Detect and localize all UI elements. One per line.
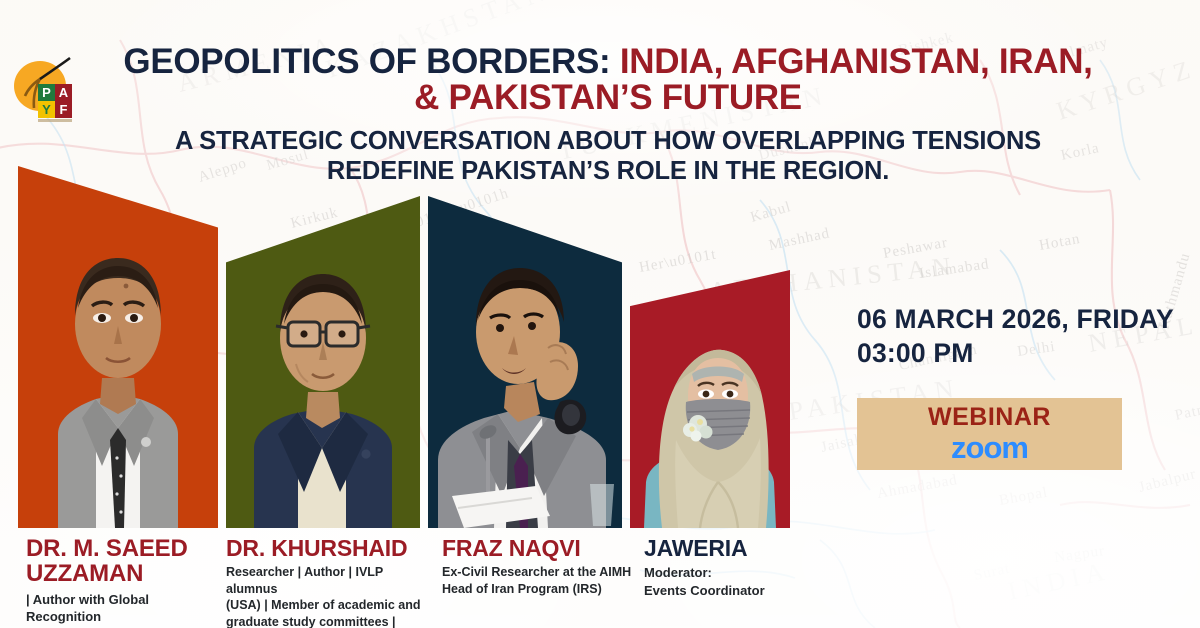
subtitle-line-2: REDEFINE PAKISTAN’S ROLE IN THE REGION. [78,156,1138,186]
speaker-caption-4: JAWERIA Moderator: Events Coordinator [644,536,824,599]
speaker-caption-3: FRAZ NAQVI Ex-Civil Researcher at the AI… [442,536,632,597]
speaker-name-2: DR. KHURSHAID [226,536,426,560]
svg-text:Y: Y [42,102,51,117]
svg-text:Mashhad: Mashhad [768,225,832,254]
subtitle-block: A STRATEGIC CONVERSATION ABOUT HOW OVERL… [78,126,1138,186]
title-line-1: GEOPOLITICS OF BORDERS: INDIA, AFGHANIST… [78,44,1138,80]
payf-logo: P A Y F [6,46,84,132]
speaker-role-4: Moderator: Events Coordinator [644,564,824,598]
speaker-name-3: FRAZ NAQVI [442,536,632,560]
headline-block: GEOPOLITICS OF BORDERS: INDIA, AFGHANIST… [78,44,1138,186]
speaker-name-1: DR. M. SAEED UZZAMAN [26,536,222,587]
title-navy-part: GEOPOLITICS OF BORDERS: [123,42,610,81]
webinar-poster: ARMENIA KAZAKHSTAN KYRGYZ TURKMENISTAN A… [0,0,1200,628]
subtitle-line-1: A STRATEGIC CONVERSATION ABOUT HOW OVERL… [78,126,1138,156]
portrait-4 [630,270,790,528]
speaker-caption-2: DR. KHURSHAID Researcher | Author | IVLP… [226,536,426,628]
svg-text:P: P [42,85,51,100]
svg-text:F: F [60,102,68,117]
speaker-photo-4 [630,270,790,528]
svg-text:Patna: Patna [1174,400,1200,424]
svg-text:Kabul: Kabul [749,199,793,226]
svg-text:Jabalpur: Jabalpur [1137,466,1198,496]
event-time: 03:00 PM [857,337,1187,371]
portrait-1 [18,166,218,528]
speaker-role-2: Researcher | Author | IVLP alumnus (USA)… [226,564,426,628]
svg-text:Her\u0101t: Her\u0101t [638,247,718,276]
svg-text:A: A [59,85,69,100]
svg-text:Bhopal: Bhopal [998,485,1049,509]
speaker-role-1: | Author with Global Recognition | IR Ex… [26,591,222,628]
title-red-part: INDIA, AFGHANISTAN, IRAN, [610,42,1092,81]
speaker-caption-1: DR. M. SAEED UZZAMAN | Author with Globa… [26,536,222,628]
event-datetime: 06 MARCH 2026, FRIDAY 03:00 PM [857,303,1187,371]
svg-text:Hotan: Hotan [1038,231,1082,254]
speaker-role-3: Ex-Civil Researcher at the AIMH Head of … [442,564,632,597]
webinar-label: WEBINAR [928,405,1051,430]
zoom-logo-text: zoom [951,432,1028,463]
svg-text:Ahmadabad: Ahmadabad [876,472,959,502]
title-line-2: & PAKISTAN’S FUTURE [78,80,1138,116]
webinar-zoom-badge: WEBINAR zoom [857,398,1122,470]
event-date: 06 MARCH 2026, FRIDAY [857,303,1187,337]
speaker-name-4: JAWERIA [644,536,824,560]
speaker-photo-1 [18,166,218,528]
